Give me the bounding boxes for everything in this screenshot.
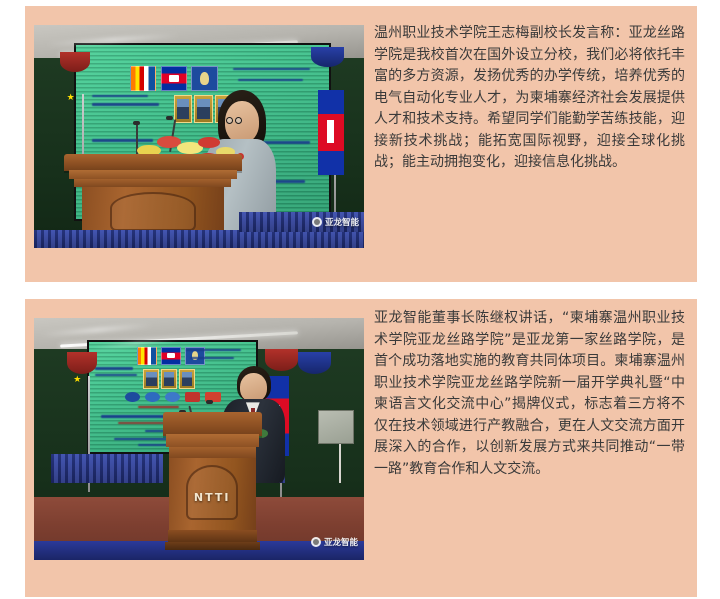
cambodia-flag-icon <box>161 66 187 91</box>
article-caption: 温州职业技术学院王志梅副校长发言称：亚龙丝路学院是我校首次在国外设立分校，我们必… <box>374 23 685 174</box>
royal-portraits <box>143 369 194 388</box>
podium-foot <box>165 542 260 550</box>
podium-base <box>168 530 257 542</box>
cambodia-flag-icon <box>161 347 182 365</box>
podium-lip <box>69 170 236 179</box>
partner-logo-icon <box>185 392 200 402</box>
ministry-emblem-icon <box>191 66 217 91</box>
microphone-head <box>133 121 140 125</box>
screen-khmer-text-line <box>233 68 310 71</box>
photo-scene: NTTI 亚龙智能 <box>34 318 364 560</box>
screen-title-line <box>138 406 179 409</box>
buddhist-flag-icon <box>130 66 156 91</box>
brand-logo-icon <box>312 217 322 227</box>
wall-cabinet <box>318 410 354 444</box>
podium-lip <box>74 179 231 187</box>
article-photo[interactable]: 亚龙智能 <box>34 25 364 248</box>
watermark-text: 亚龙智能 <box>324 536 358 548</box>
podium-top <box>64 154 242 171</box>
article-photo[interactable]: NTTI 亚龙智能 <box>34 318 364 560</box>
microphone-head <box>206 400 213 404</box>
watermark: 亚龙智能 <box>311 536 358 548</box>
podium-lip <box>169 447 256 458</box>
screen-khmer-text-line <box>238 79 302 82</box>
podium: NTTI <box>163 412 262 550</box>
stage-skirt <box>51 454 163 483</box>
podium-arch <box>110 192 196 231</box>
photo-scene: 亚龙智能 <box>34 25 364 248</box>
partner-logo-icon <box>145 392 160 402</box>
partner-logo-icon <box>125 392 140 402</box>
stage-skirt <box>34 230 364 248</box>
page-root: 亚龙智能 温州职业技术学院王志梅副校长发言称：亚龙丝路学院是我校首次在国外设立分… <box>0 0 720 599</box>
brand-logo-icon <box>311 537 321 547</box>
portrait-frame <box>174 95 192 124</box>
buddhist-flag-icon <box>137 347 158 365</box>
article-caption: 亚龙智能董事长陈继权讲话，“柬埔寨温州职业技术学院亚龙丝路学院”是亚龙第一家丝路… <box>374 308 685 480</box>
podium-body: NTTI <box>169 458 256 530</box>
cable <box>339 444 341 483</box>
portrait-frame <box>179 369 195 388</box>
portrait-frame <box>143 369 159 388</box>
watermark: 亚龙智能 <box>312 216 359 228</box>
podium-top <box>163 412 262 435</box>
screen-khmer-text-line <box>92 103 159 106</box>
cambodia-flag <box>315 90 355 219</box>
podium-label: NTTI <box>169 491 256 504</box>
portrait-frame <box>161 369 177 388</box>
curtain-valance <box>67 352 97 374</box>
glasses-icon <box>226 117 242 124</box>
curtain-valance <box>298 352 331 374</box>
article-block: 亚龙智能 温州职业技术学院王志梅副校长发言称：亚龙丝路学院是我校首次在国外设立分… <box>25 6 697 282</box>
podium-lip <box>166 434 259 446</box>
cambodia-flag-cloth <box>318 90 344 175</box>
curtain-valance <box>60 52 90 72</box>
partner-logo-icon <box>165 392 180 402</box>
watermark-text: 亚龙智能 <box>325 216 359 228</box>
article-block: NTTI 亚龙智能 亚龙智能董事长陈继权讲话，“柬埔寨温州职业技术学院亚龙丝路学… <box>25 299 697 597</box>
screen-khmer-text-line <box>92 95 149 98</box>
screen-flag-row <box>130 66 218 91</box>
screen-khmer-text-line <box>95 367 133 370</box>
